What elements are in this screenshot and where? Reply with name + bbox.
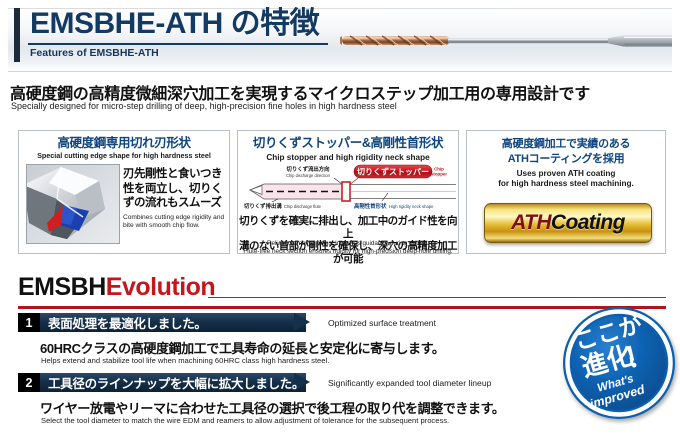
feature-2-title-en: Chip stopper and high rigidity neck shap… [238,153,458,163]
feature-2-body-jp-line1: 切りくずを確実に排出し、加工中のガイド性を向上 [238,215,458,240]
page-title: EMSBHE-ATH の特徴 [30,7,319,41]
feature-box-ath-coating: 高硬度鋼加工で実績のある ATHコーティングを採用 Uses proven AT… [466,130,666,254]
evolution-title-part1: EMSBH [18,273,106,301]
whats-improved-seal: ここが 進化 ！ What's improved [560,303,680,425]
evolution-title-part2: Evolution [106,273,215,301]
evolution-title: EMSBHEvolution [18,272,215,302]
evolution-item-2-heading-en: Significantly expanded tool diameter lin… [328,373,491,392]
svg-text:stopper: stopper [431,172,447,177]
evolution-item-1-heading-en: Optimized surface treatment [328,313,436,332]
evolution-item-1-number: 1 [18,313,40,332]
evolution-item-1-body-en: Helps extend and stabilize tool life whe… [41,356,329,365]
feature-1-title-jp: 高硬度鋼専用切れ刃形状 [19,136,229,150]
ath-coating-badge-text: ATHCoating [485,204,651,242]
feature-box-chip-stopper: 切りくずストッパー&高剛性首形状 Chip stopper and high r… [237,130,459,254]
feature-box-cutting-edge: 高硬度鋼専用切れ刃形状 Special cutting edge shape f… [18,130,230,254]
feature-2-body-en-line1: Reliably removes chips; improves guidanc… [238,240,458,248]
evolution-item-1-banner: 1 表面処理を最適化しました。 Optimized surface treatm… [18,313,318,332]
evolution-rule-thin [208,297,666,298]
feature-2-body-en-line2: Flute-free neck section ensures rigidity… [238,248,458,256]
evolution-item-2-banner: 2 工具径のラインナップを大幅に拡大しました。 Significantly ex… [18,373,318,392]
feature-1-body-jp: 刃先剛性と食いつき性を両立し、切りくずの流れもスムーズ [123,167,227,211]
evolution-item-1-heading-jp: 表面処理を最適化しました。 [48,313,207,332]
banner-arrow-icon [294,313,310,331]
ath-coating-badge: ATHCoating [484,203,652,243]
ath-badge-part1: ATH [511,204,551,242]
ath-badge-part2: Coating [551,204,625,242]
feature-3-title-en-line1: Uses proven ATH coating [467,169,665,179]
feature-1-body-en: Combines cutting edge rigidity and bite … [123,214,227,230]
lead-text-en: Specially designed for micro-step drilli… [11,101,397,111]
evolution-item-2-body-en: Select the tool diameter to match the wi… [41,416,449,425]
feature-3-title-en-line2: for high hardness steel machining. [467,179,665,189]
svg-text:Chip discharge flute: Chip discharge flute [284,204,322,209]
chip-stopper-diagram: 切りくず流出方向 Chip discharge direction 切りくずスト… [242,163,456,213]
svg-text:High rigidity neck shape: High rigidity neck shape [389,204,434,209]
evolution-item-1-body-jp: 60HRCクラスの高硬度鋼加工で工具寿命の延長と安定化に寄与します。 [40,338,444,357]
feature-3-title-jp-line2: ATHコーティングを採用 [467,152,665,166]
evolution-item-2-number: 2 [18,373,40,392]
evolution-item-2-body-jp: ワイヤー放電やリーマに合わせた工具径の選択で後工程の取り代を調整できます。 [40,398,505,417]
feature-2-title-jp: 切りくずストッパー&高剛性首形状 [238,136,458,150]
svg-text:Chip discharge direction: Chip discharge direction [286,173,331,178]
drill-bit-illustration [340,25,672,59]
catalog-page: EMSBHE-ATH の特徴 Features of EMSBHE-ATH 高硬… [0,0,680,443]
svg-text:切りくず排出溝: 切りくず排出溝 [244,202,282,210]
svg-text:切りくずストッパー: 切りくずストッパー [357,166,429,176]
feature-1-title-en: Special cutting edge shape for high hard… [19,151,229,160]
evolution-item-2-heading-jp: 工具径のラインナップを大幅に拡大しました。 [48,373,304,392]
svg-text:切りくず流出方向: 切りくず流出方向 [286,165,329,173]
header-title-underline [28,43,328,45]
feature-2-body-en: Reliably removes chips; improves guidanc… [238,240,458,255]
cutting-edge-3d-render [26,164,120,244]
header-accent-bar [14,8,20,62]
svg-text:高剛性首形状: 高剛性首形状 [354,202,387,210]
header-subtitle: Features of EMSBHE-ATH [30,47,159,59]
feature-3-title-jp-line1: 高硬度鋼加工で実績のある [467,137,665,151]
feature-1-body: 刃先剛性と食いつき性を両立し、切りくずの流れもスムーズ Combines cut… [123,167,227,230]
